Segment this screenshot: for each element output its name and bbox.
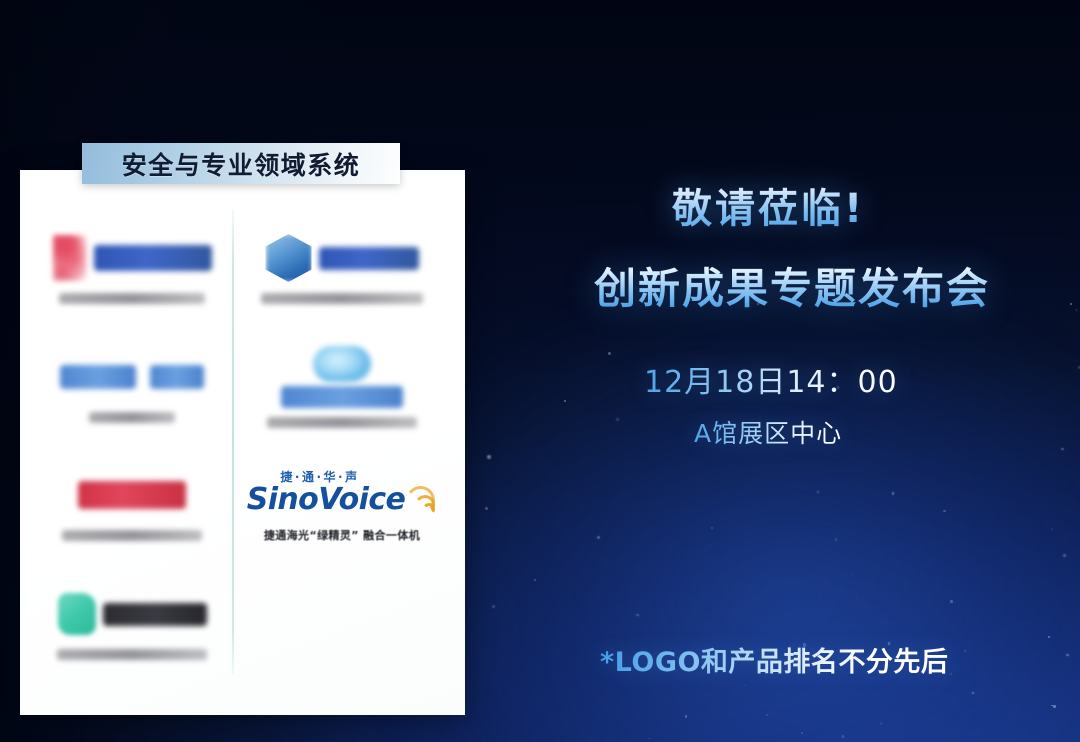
logo-artwork [53,232,212,284]
partner-logo-card: 捷·通·华·声 Sino Voice 捷通海光“绿精灵” 融合一体机 [20,170,465,715]
invitation-venue: A馆展区中心 [694,414,842,450]
logo-item[interactable] [32,328,232,446]
cloud-icon [313,346,371,382]
logo-caption [267,417,417,428]
invitation-footnote: *LOGO和产品排名不分先后 [600,640,948,679]
sinovoice-logo: 捷·通·华·声 Sino Voice [247,468,438,515]
wordmark-dark [103,603,207,626]
logo-caption [89,412,175,423]
invitation-headline-primary: 敬请莅临! [672,176,865,234]
logo-item[interactable] [32,208,232,328]
card-banner: 安全与专业领域系统 [82,143,400,184]
sinovoice-word-sino: Sino [247,485,318,515]
sinovoice-word-voice: Voice [318,485,405,515]
logo-item[interactable] [242,208,442,328]
blue-cube-icon [266,234,312,282]
logo-grid: 捷·通·华·声 Sino Voice 捷通海光“绿精灵” 融合一体机 [20,200,465,700]
sinovoice-product-caption: 捷通海光“绿精灵” 融合一体机 [264,527,420,543]
wordmark-blue [319,247,419,270]
red-mark-icon [53,235,87,281]
invitation-datetime: 12月18日14：00 [644,357,898,401]
logo-artwork [281,346,403,408]
wordmark-blue [94,245,212,271]
logo-artwork [58,588,207,640]
logo-caption [62,530,202,541]
teal-mark-icon [58,593,96,635]
wordmark-blue [281,386,403,408]
sound-wave-icon [401,483,437,515]
logo-artwork [60,351,204,403]
logo-item[interactable] [32,446,232,564]
sinovoice-wordmark: Sino Voice [247,483,438,515]
wordmark-blue-b [150,365,204,389]
logo-artwork [266,232,419,284]
invitation-panel: 敬请莅临! 创新成果专题发布会 12月18日14：00 A馆展区中心 *LOGO… [560,0,1080,742]
logo-caption [57,649,207,660]
wordmark-blue-a [60,365,136,389]
logo-caption [59,293,205,304]
slide-canvas: 捷·通·华·声 Sino Voice 捷通海光“绿精灵” 融合一体机 [0,0,1080,742]
wordmark-red [78,481,186,509]
logo-item[interactable] [32,564,232,684]
logo-caption [261,293,423,304]
card-banner-title: 安全与专业领域系统 [122,146,361,182]
invitation-headline-secondary: 创新成果专题发布会 [594,255,990,316]
logo-item-sinovoice[interactable]: 捷·通·华·声 Sino Voice 捷通海光“绿精灵” 融合一体机 [242,446,442,564]
logo-artwork [78,469,186,521]
logo-item[interactable] [242,328,442,446]
